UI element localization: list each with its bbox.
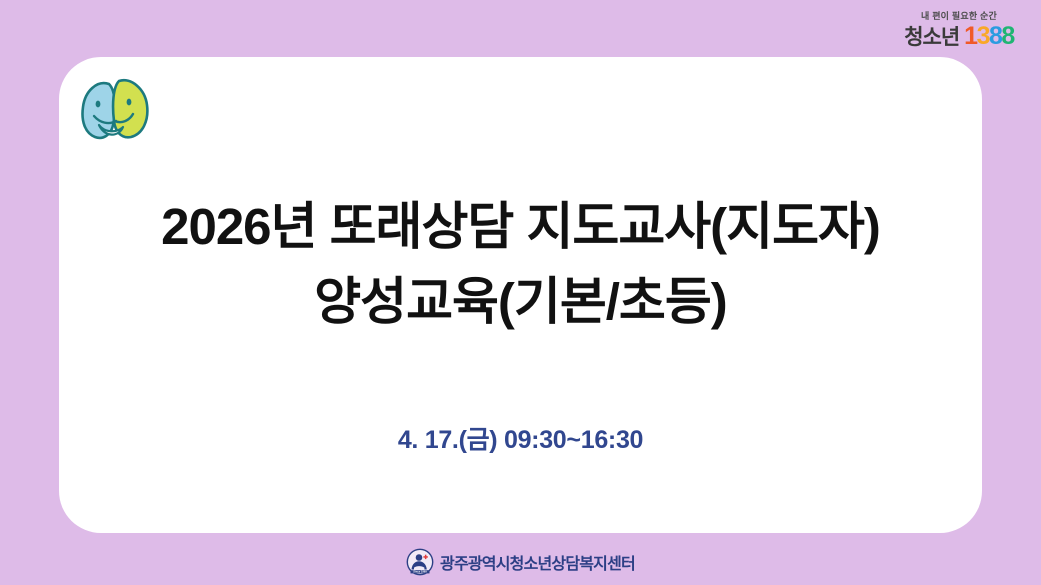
organization-name: 광주광역시청소년상담복지센터 bbox=[440, 550, 635, 574]
page-title: 2026년 또래상담 지도교사(지도자) 양성교육(기본/초등) bbox=[59, 189, 982, 340]
brand-wordmark: 청소년 1388 bbox=[889, 24, 1029, 49]
brand-digits: 1388 bbox=[964, 24, 1014, 49]
badge-caption: Since 1999 bbox=[413, 570, 427, 574]
title-line-2: 양성교육(기본/초등) bbox=[59, 264, 982, 339]
cheongsonyeon-1388-logo: 내 편이 필요한 순간 청소년 1388 bbox=[889, 12, 1029, 49]
title-line-1: 2026년 또래상담 지도교사(지도자) bbox=[59, 189, 982, 264]
gwangju-center-emblem-icon: Since 1999 bbox=[406, 548, 434, 576]
brand-digit-8-blue: 8 bbox=[989, 24, 1001, 49]
brand-digit-3: 3 bbox=[977, 24, 989, 49]
brand-digit-8-green: 8 bbox=[1001, 24, 1013, 49]
brand-digit-1: 1 bbox=[964, 24, 976, 49]
brand-tagline: 내 편이 필요한 순간 bbox=[889, 12, 1029, 21]
schedule-text: 4. 17.(금) 09:30~16:30 bbox=[59, 420, 982, 456]
footer: Since 1999 광주광역시청소년상담복지센터 bbox=[0, 548, 1041, 576]
brand-word-text: 청소년 bbox=[904, 27, 959, 48]
two-leaf-faces-icon bbox=[71, 71, 157, 149]
main-card: 2026년 또래상담 지도교사(지도자) 양성교육(기본/초등) 4. 17.(… bbox=[59, 57, 982, 533]
